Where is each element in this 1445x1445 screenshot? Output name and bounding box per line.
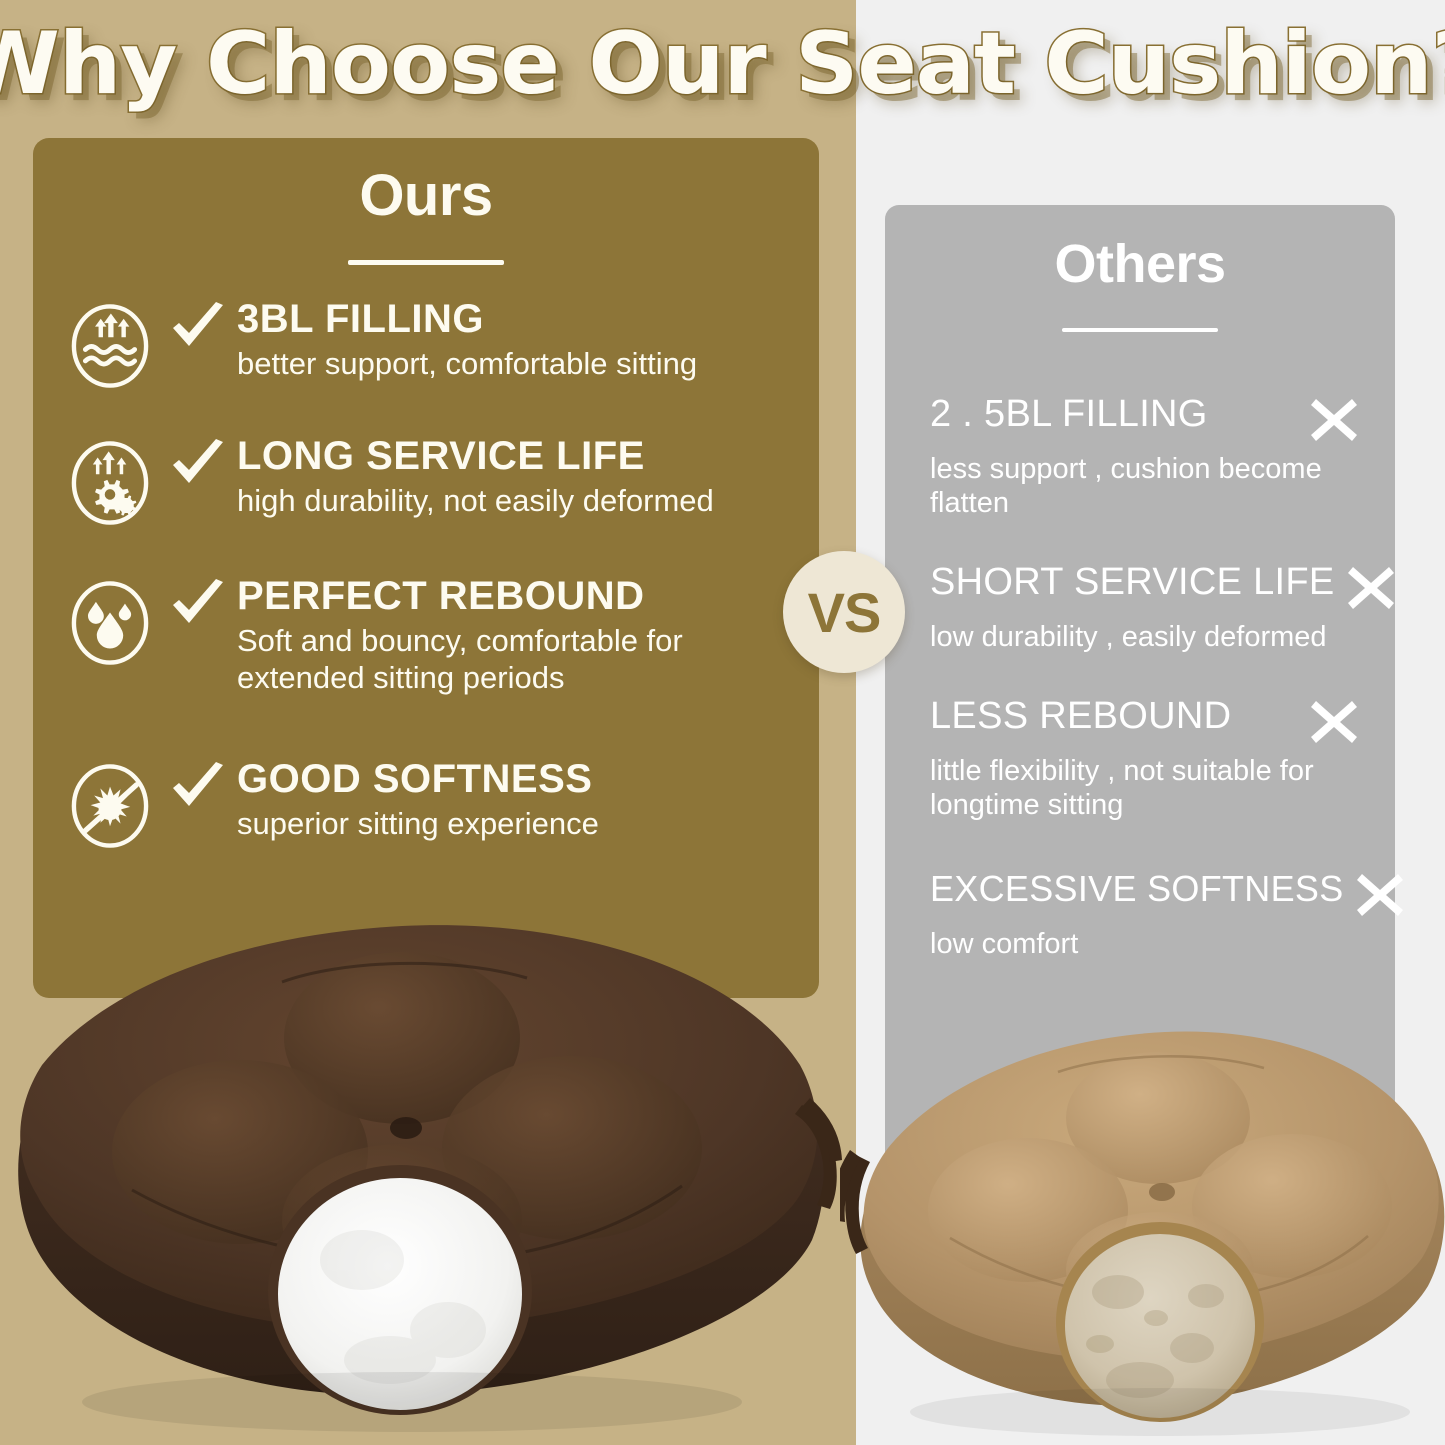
others-feature-title: SHORT SERVICE LIFE <box>930 563 1335 603</box>
check-icon <box>159 758 237 818</box>
others-heading: Others <box>885 233 1395 295</box>
others-feature-title: EXCESSIVE SOFTNESS <box>930 870 1344 908</box>
check-icon <box>159 298 237 358</box>
ours-feature-subtitle: Soft and bouncy, comfortable for extende… <box>237 622 782 696</box>
page-title: Why Choose Our Seat Cushion? <box>0 8 1445 120</box>
ours-feature-title: 3BL FILLING <box>237 298 697 340</box>
x-icon <box>1308 697 1360 752</box>
ours-feature-subtitle: superior sitting experience <box>237 805 599 842</box>
others-divider <box>1062 328 1218 332</box>
ours-feature-subtitle: high durability, not easily deformed <box>237 482 714 519</box>
vs-badge-label: VS <box>808 580 881 645</box>
ours-feature-row: GOOD SOFTNESS superior sitting experienc… <box>61 758 599 850</box>
others-feature-title: 2 . 5BL FILLING <box>930 395 1208 435</box>
ours-feature-row: 3BL FILLING better support, comfortable … <box>61 298 697 390</box>
others-feature-subtitle: less support , cushion become flatten <box>930 453 1360 521</box>
ours-feature-title: LONG SERVICE LIFE <box>237 435 714 477</box>
water-droplet-icon <box>61 575 159 667</box>
page-title-text: Why Choose Our Seat Cushion? <box>0 14 1445 114</box>
ours-heading: Ours <box>33 162 819 229</box>
ours-divider <box>348 260 504 265</box>
others-feature-row: 2 . 5BL FILLING less support , cushion b… <box>930 395 1360 521</box>
others-feature-subtitle: low durability , easily deformed <box>930 621 1360 655</box>
others-feature-subtitle: little flexibility , not suitable for lo… <box>930 755 1360 823</box>
x-icon <box>1308 395 1360 450</box>
vs-badge: VS <box>783 551 905 673</box>
anti-bacterial-icon <box>61 758 159 850</box>
ours-feature-row: PERFECT REBOUND Soft and bouncy, comfort… <box>61 575 782 696</box>
others-cushion-image <box>840 1000 1445 1445</box>
ours-feature-row: LONG SERVICE LIFE high durability, not e… <box>61 435 714 527</box>
check-icon <box>159 575 237 635</box>
ours-feature-subtitle: better support, comfortable sitting <box>237 345 697 382</box>
others-feature-row: SHORT SERVICE LIFE low durability , easi… <box>930 563 1360 655</box>
others-feature-row: EXCESSIVE SOFTNESS low comfort <box>930 870 1360 962</box>
ours-feature-title: GOOD SOFTNESS <box>237 758 599 800</box>
check-icon <box>159 435 237 495</box>
others-feature-title: LESS REBOUND <box>930 697 1231 737</box>
ours-cushion-image <box>0 890 862 1445</box>
infographic-stage: Why Choose Our Seat Cushion? Ours <box>0 0 1445 1445</box>
breathable-filling-icon <box>61 298 159 390</box>
x-icon <box>1345 563 1397 618</box>
ours-feature-title: PERFECT REBOUND <box>237 575 782 617</box>
gear-durability-icon <box>61 435 159 527</box>
others-feature-subtitle: low comfort <box>930 928 1360 962</box>
x-icon <box>1354 870 1406 925</box>
ours-panel: Ours <box>33 138 819 998</box>
others-feature-row: LESS REBOUND little flexibility , not su… <box>930 697 1360 823</box>
